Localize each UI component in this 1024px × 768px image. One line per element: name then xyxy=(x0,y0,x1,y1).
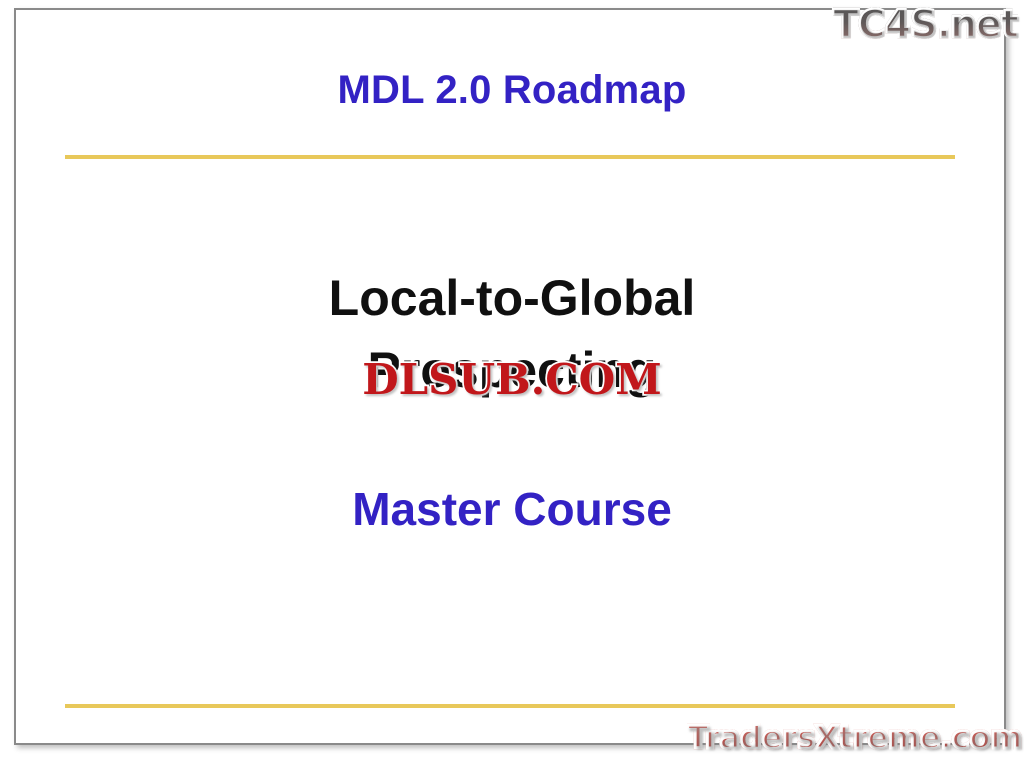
body-line-secondary: Prospecting xyxy=(0,334,1024,406)
page-title: MDL 2.0 Roadmap xyxy=(0,68,1024,113)
body-line-primary: Local-to-Global xyxy=(0,262,1024,334)
divider-bottom xyxy=(65,704,955,708)
divider-top xyxy=(65,155,955,159)
slide-subtitle: Master Course xyxy=(0,482,1024,536)
slide-body: Local-to-Global Prospecting xyxy=(0,262,1024,406)
